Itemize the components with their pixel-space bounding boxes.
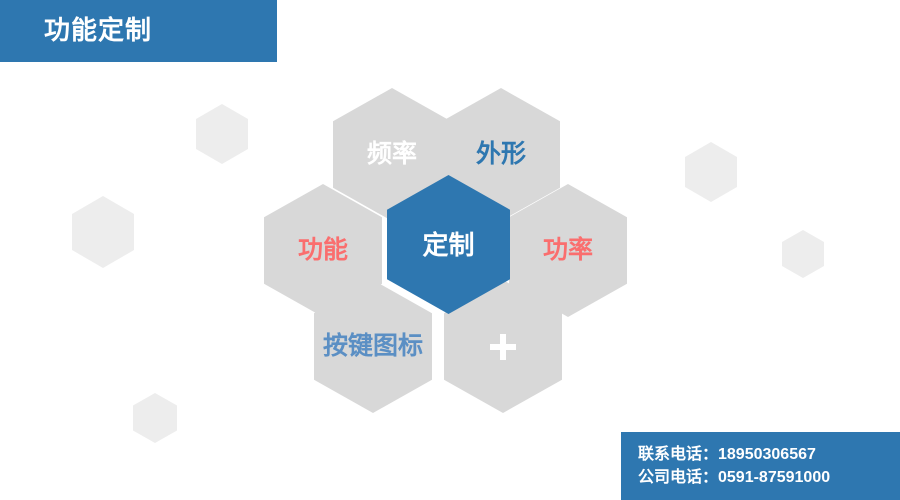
hex-label-key-icon: 按键图标 (323, 334, 423, 359)
honeycomb-diagram: 频率 外形 功能 定制 功率 按键图标 (0, 0, 900, 500)
contact-phone-company: 公司电话：0591-87591000 (638, 466, 900, 489)
hex-label-frequency: 频率 (367, 142, 417, 167)
contact-info-box: 联系电话：18950306567 公司电话：0591-87591000 (621, 432, 900, 500)
hex-label-customization: 定制 (422, 232, 474, 258)
contact-phone-mobile: 联系电话：18950306567 (638, 443, 900, 466)
hex-label-power: 功率 (543, 238, 593, 263)
hex-label-appearance: 外形 (476, 142, 526, 167)
hex-label-function: 功能 (298, 238, 348, 263)
slide-canvas: 功能定制 频率 外形 功能 定制 功率 按键图标 (0, 0, 900, 500)
plus-icon (490, 334, 516, 360)
